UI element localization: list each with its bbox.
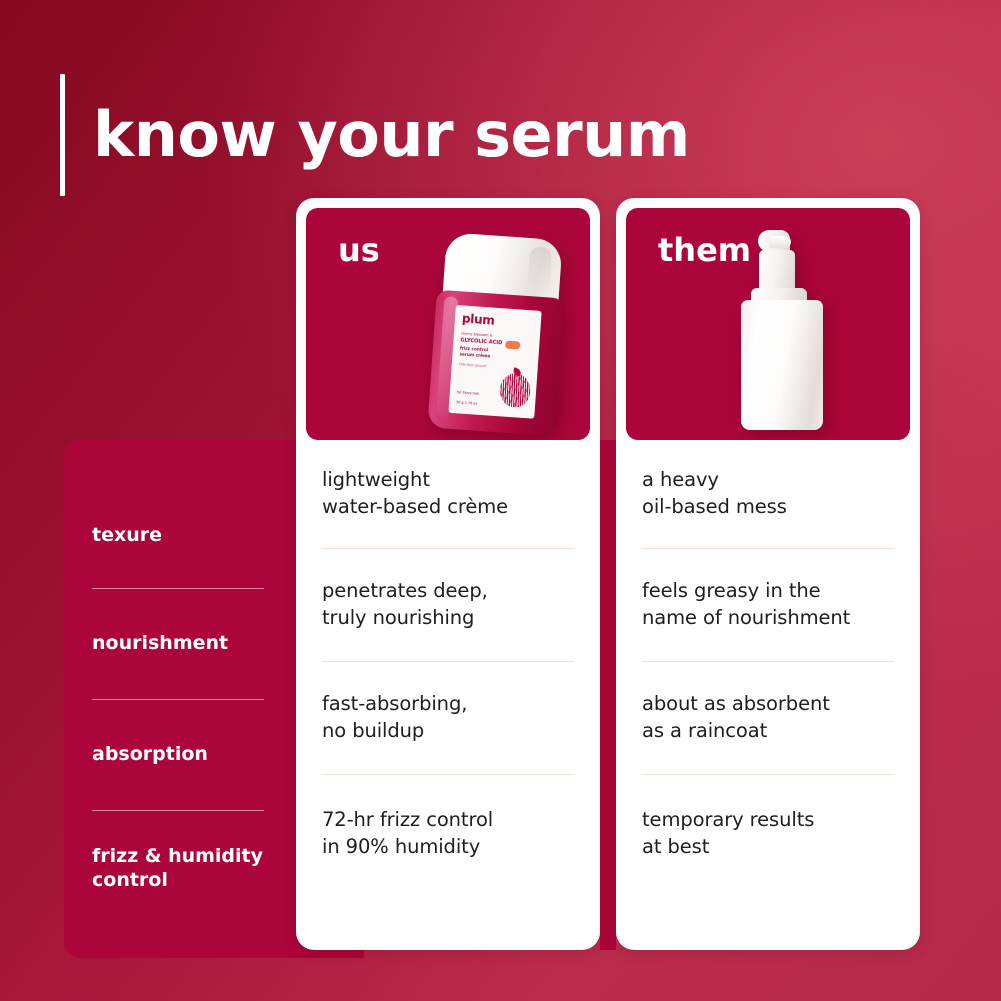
title-accent-bar (60, 74, 65, 196)
comparison-card-us[interactable]: us plum cherry blossom & GLYCOLIC ACID f… (296, 198, 600, 950)
cell-text: penetrates deep,truly nourishing (322, 578, 488, 632)
cell-us-1: penetrates deep,truly nourishing (314, 549, 582, 661)
card-heading-us: us (338, 234, 380, 266)
row-label-frizz-humidity-control: frizz & humidity control (92, 811, 320, 927)
cell-them-3: temporary resultsat best (634, 775, 902, 893)
brand-logo-text: plum (462, 312, 495, 326)
row-label-absorption: absorption (92, 700, 320, 810)
label-line-4: serum crème (459, 352, 490, 359)
row-label-list: texurenourishmentabsorptionfrizz & humid… (92, 484, 320, 927)
label-foot-2: 50 g 1.76 oz (456, 401, 477, 406)
row-label-text: frizz & humidity control (92, 845, 320, 893)
plum-serum-bottle-icon: plum cherry blossom & GLYCOLIC ACID friz… (427, 232, 568, 436)
cell-text: temporary resultsat best (642, 807, 814, 861)
cell-text: 72-hr frizz controlin 90% humidity (322, 807, 493, 861)
label-badge (505, 341, 521, 350)
cell-them-1: feels greasy in thename of nourishment (634, 549, 902, 661)
bottle-label: plum cherry blossom & GLYCOLIC ACID friz… (448, 305, 541, 419)
cell-us-3: 72-hr frizz controlin 90% humidity (314, 775, 582, 893)
label-tagline: *life-free serum* (459, 363, 488, 369)
comparison-card-them[interactable]: them a heavyoil-based messfeels greasy i… (616, 198, 920, 950)
cell-them-0: a heavyoil-based mess (634, 440, 902, 548)
cell-text: lightweightwater-based crème (322, 467, 508, 521)
title-text: know your serum (93, 74, 690, 196)
cell-text: about as absorbentas a raincoat (642, 691, 830, 745)
cell-us-0: lightweightwater-based crème (314, 440, 582, 548)
cell-text: fast-absorbing,no buildup (322, 691, 467, 745)
cell-text: feels greasy in thename of nourishment (642, 578, 850, 632)
cell-them-2: about as absorbentas a raincoat (634, 662, 902, 774)
plum-fruit-icon (500, 373, 530, 407)
row-label-nourishment: nourishment (92, 589, 320, 699)
cell-us-2: fast-absorbing,no buildup (314, 662, 582, 774)
card-body-us: lightweightwater-based crèmepenetrates d… (306, 440, 590, 893)
poster-canvas: know your serum texurenourishmentabsorpt… (0, 0, 1001, 1001)
page-title: know your serum (60, 74, 690, 196)
cell-text: a heavyoil-based mess (642, 467, 787, 521)
row-label-text: absorption (92, 743, 208, 767)
card-heading-them: them (658, 234, 751, 266)
column-gap-stripe (600, 440, 616, 950)
row-label-texure: texure (92, 484, 320, 588)
card-header-us: us plum cherry blossom & GLYCOLIC ACID f… (306, 208, 590, 440)
bottle-body: plum cherry blossom & GLYCOLIC ACID friz… (427, 290, 564, 437)
card-body-them: a heavyoil-based messfeels greasy in the… (626, 440, 910, 893)
row-label-text: nourishment (92, 632, 228, 656)
pump-body (741, 300, 823, 430)
card-header-them: them (626, 208, 910, 440)
label-foot-1: for frizzy hair (457, 391, 480, 396)
pump-nozzle (758, 230, 790, 252)
pump-collar (759, 250, 795, 292)
row-label-text: texure (92, 524, 162, 548)
